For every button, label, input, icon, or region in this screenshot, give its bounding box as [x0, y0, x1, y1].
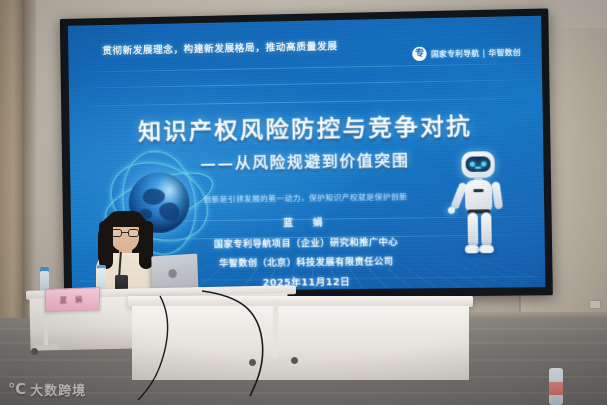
eyeglasses-icon: [111, 229, 139, 237]
left-wall-wood-panel: [0, 0, 22, 352]
laptop-screen[interactable]: [151, 254, 198, 292]
hair-side: [99, 221, 113, 269]
table-caster: [249, 359, 256, 366]
table-caster: [31, 348, 38, 355]
slide-logo-text: 国家专利导航 | 华智数创: [431, 46, 521, 59]
water-bottle-label: [549, 382, 563, 395]
laptop-logo-icon: [168, 269, 177, 278]
watermark: ℃ 大数跨境: [8, 380, 86, 399]
watermark-logo-icon: ℃: [8, 382, 26, 397]
name-card: 蓝 娟: [45, 287, 100, 312]
slide-banner-text: 贯彻新发展理念，构建新发展格局，推动高质量发展: [102, 37, 407, 57]
wall-outlet: [589, 300, 601, 309]
table-caster: [291, 357, 298, 364]
patent-navigation-logo-icon: 专: [412, 47, 427, 61]
slide-logo-badge: 专 国家专利导航 | 华智数创: [412, 45, 521, 61]
watermark-text: 大数跨境: [30, 380, 86, 399]
table-modesty-panel-right: [132, 306, 469, 380]
name-card-text: 蓝 娟: [60, 294, 86, 305]
table-leg: [273, 300, 278, 362]
slide-title: 知识产权风险防控与竞争对抗: [69, 106, 543, 148]
presentation-photo-scene: 贯彻新发展理念，构建新发展格局，推动高质量发展 专 国家专利导航 | 华智数创: [0, 0, 607, 405]
